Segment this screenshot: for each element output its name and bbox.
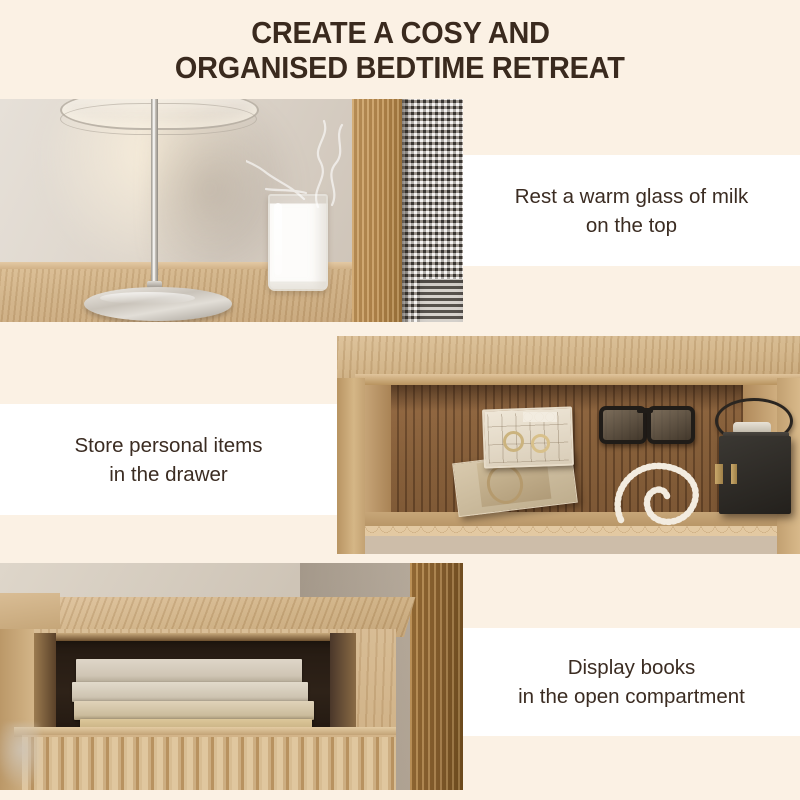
caption-line-2: in the open compartment: [518, 685, 745, 708]
title-line-1: CREATE A COSY AND: [251, 15, 550, 50]
plant-blur: [0, 723, 40, 790]
case-clasp-1: [715, 464, 723, 484]
title-line-2: ORGANISED BEDTIME RETREAT: [175, 50, 625, 85]
steam-icon: [246, 107, 356, 212]
book-2: [72, 682, 308, 702]
wooden-blind: [352, 99, 402, 322]
basket-base: [420, 279, 463, 322]
feature-photo-drawer: [337, 336, 800, 554]
compartment-inner-right: [330, 633, 356, 731]
page-title: CREATE A COSY AND ORGANISED BEDTIME RETR…: [0, 0, 800, 99]
book-1: [76, 659, 302, 683]
feature-photo-books: [0, 563, 463, 790]
sunglasses-bridge: [637, 408, 653, 413]
compartment-inner-left: [34, 633, 56, 731]
caption-text-drawer: Store personal items in the drawer: [74, 431, 262, 489]
feature-photo-milk: [0, 99, 463, 322]
caption-line-1: Store personal items: [74, 434, 262, 457]
drawer-top-surface: [337, 336, 800, 378]
drawer-frame-left: [337, 378, 365, 554]
caption-text-books: Display books in the open compartment: [518, 653, 745, 711]
dark-jewellery-case: [719, 436, 791, 514]
caption-text-milk: Rest a warm glass of milk on the top: [515, 182, 749, 240]
ring-gold-1: [503, 431, 524, 452]
pearl-necklace-icon: [605, 454, 715, 534]
book-3: [74, 701, 314, 720]
caption-line-2: in the drawer: [109, 463, 228, 486]
basket-shadow: [402, 99, 412, 322]
feature-caption-drawer: Store personal items in the drawer: [0, 404, 337, 515]
drawer-flute-texture: [22, 737, 396, 790]
lamp-stem-highlight: [153, 99, 155, 307]
case-clasp-2: [731, 464, 737, 484]
feature-caption-books: Display books in the open compartment: [463, 628, 800, 736]
lamp-shade-inner-ring: [60, 103, 257, 135]
sunglasses-lens-right: [647, 406, 695, 444]
book-stack: [72, 659, 318, 731]
caption-line-1: Rest a warm glass of milk: [515, 185, 749, 208]
milk-glass-highlight: [274, 203, 282, 275]
feature-caption-milk: Rest a warm glass of milk on the top: [463, 155, 800, 266]
drawer-scallop-edge: [365, 526, 777, 536]
caption-line-1: Display books: [568, 656, 696, 679]
lamp-base-highlight: [100, 292, 195, 304]
drawer-front-lip: [355, 374, 800, 385]
earring-studs: [523, 412, 557, 422]
ring-gold-2: [531, 434, 550, 453]
compartment-top-lip: [34, 633, 356, 641]
wooden-door-frame: [410, 563, 463, 790]
caption-line-2: on the top: [586, 214, 677, 237]
infographic-page: CREATE A COSY AND ORGANISED BEDTIME RETR…: [0, 0, 800, 800]
